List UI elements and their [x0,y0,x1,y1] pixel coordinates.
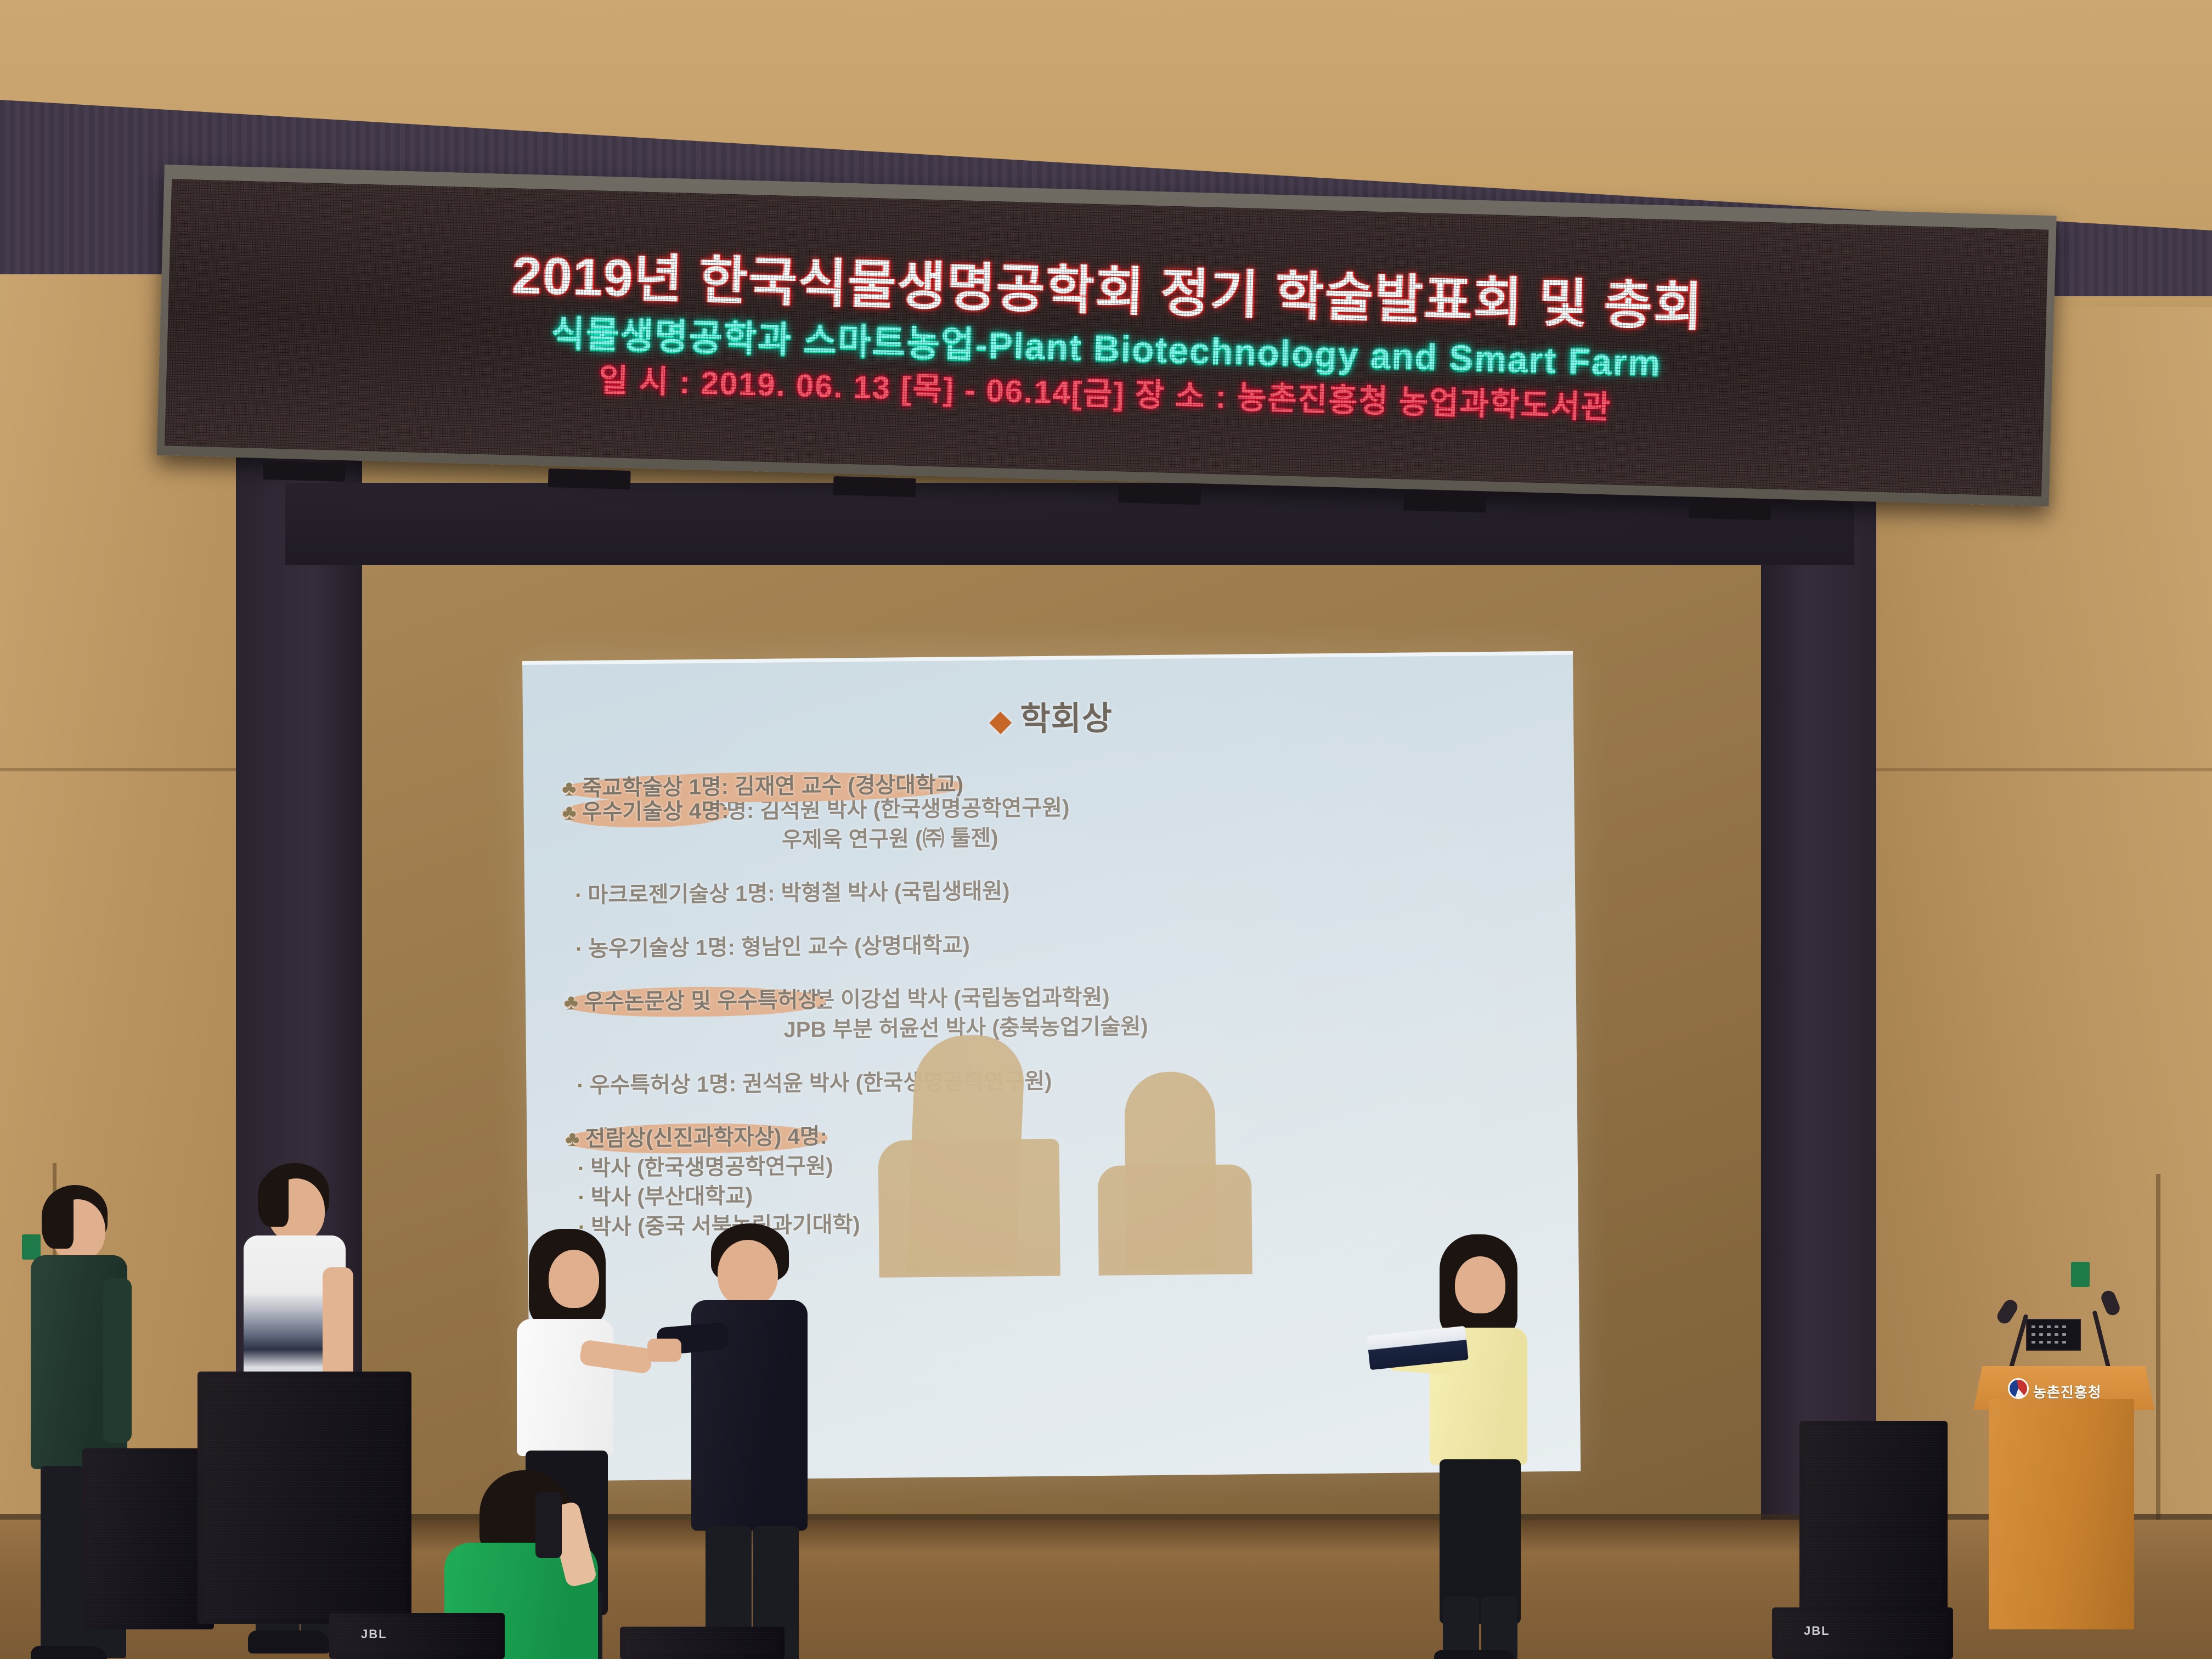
dot-bullet-icon: · [578,1186,585,1210]
slide-row-text: 전람상(신진과학자상) 4명: [585,1125,827,1151]
club-bullet-icon: ♣ [562,776,577,800]
conference-hall-scene: 2019년 한국식물생명공학회 정기 학술발표회 및 총회 식물생명공학과 스마… [0,0,2212,1659]
floor-monitor-right: JBL [1772,1607,1953,1659]
speaker-brand-right: JBL [1804,1624,1830,1638]
club-bullet-icon: ♣ [562,800,577,825]
led-banner: 2019년 한국식물생명공학회 정기 학술발표회 및 총회 식물생명공학과 스마… [157,165,2057,506]
slide-row-text: 박사 (한국생명공학연구원) [590,1154,833,1180]
person-woman-yellow-blouse [1421,1234,1542,1659]
dot-bullet-icon: · [575,883,583,907]
slide-row-text: 우수논문상 및 우수특허상: [584,988,826,1014]
speaker-left [198,1372,411,1624]
club-bullet-icon: ♣ [564,990,579,1014]
floor-monitor-center [620,1627,785,1659]
podium-body [1989,1399,2134,1629]
speaker-right [1799,1421,1948,1635]
slide-row: ♣우수기술상 4명: [562,797,729,828]
slide-row-text: 죽교학술상 1명: 김재연 교수 (경상대학교) [582,772,963,800]
dot-bullet-icon: · [575,937,583,961]
slide-row-text: 농우기술상 1명: 형남인 교수 (상명대학교) [588,933,970,961]
podium-control-panel[interactable] [2026,1319,2081,1351]
slide-row-text: 우제욱 연구원 (㈜ 툴젠) [782,826,998,852]
dot-bullet-icon: · [577,1074,584,1098]
person-man-dark-suit-presenter [686,1223,817,1659]
slide-row-text: 마크로젠기술상 1명: 박형철 박사 (국립생태원) [588,879,1009,907]
diamond-marker-icon: ◆ [989,704,1013,737]
stage-monitor-left [82,1448,214,1629]
silhouette-presenter-body [878,1139,1060,1278]
silhouette-assistant-body [1098,1164,1252,1276]
speaker-brand-left: JBL [361,1627,387,1641]
club-bullet-icon: ♣ [565,1127,580,1151]
right-wall-seam [1854,768,2212,771]
led-screen: 2019년 한국식물생명공학회 정기 학술발표회 및 총회 식물생명공학과 스마… [165,179,2049,496]
slide-title: ◆학회상 [561,687,1541,744]
dot-bullet-icon: · [578,1156,585,1181]
exit-sign-right [2071,1262,2090,1287]
slide-row-text: 박사 (부산대학교) [591,1184,753,1210]
door-edge-right [2156,1174,2160,1558]
slide-title-text: 학회상 [1020,700,1113,738]
government-emblem-icon [2008,1378,2029,1399]
slide-row-text: 우수기술상 4명: [582,799,729,825]
floor-monitor-left: JBL [329,1613,505,1659]
